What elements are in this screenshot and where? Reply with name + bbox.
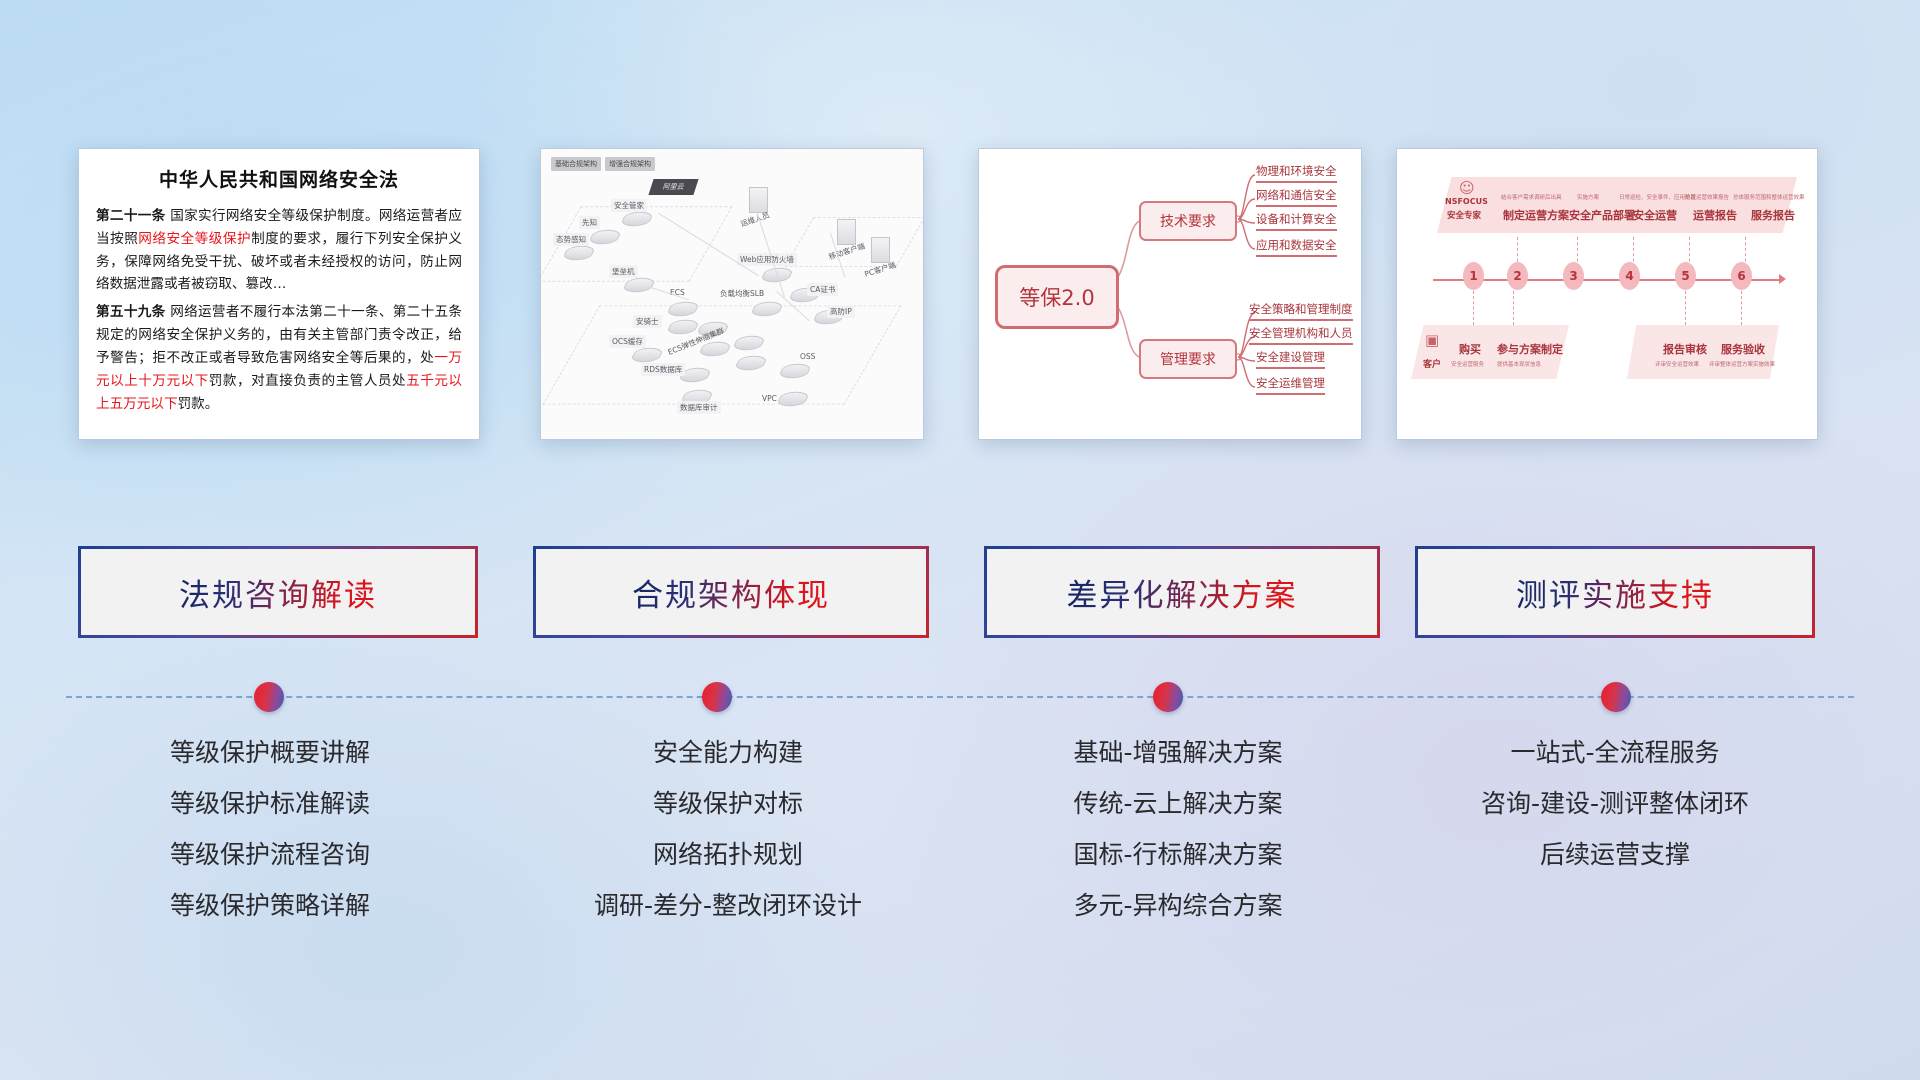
mindmap-leaf-mgmt-1: 安全策略和管理制度 [1249,301,1353,321]
connector-dash-9 [1741,291,1742,325]
card-nsfocus-service-timeline[interactable]: ☺ NSFOCUS 安全专家 制定运营方案 结合客户需求调研后出具 安全产品部署… [1396,148,1818,440]
list-item: 国标-行标解决方案 [978,842,1378,867]
mindmap-leaf-mgmt-2: 安全管理机构和人员 [1249,325,1353,345]
step-title-3: 安全运营 [1633,207,1677,223]
node-bastion-host [625,277,653,293]
node-anqishi [669,319,697,335]
customer-person-icon: ▣ [1425,331,1439,349]
step-sub-4: 阶段运营效果报告 [1685,193,1729,201]
slide-root: 中华人民共和国网络安全法 第二十一条 国家实行网络安全等级保护制度。网络运营者应… [0,0,1920,1080]
node-ecs-scaling-3 [735,335,763,351]
mindmap-leaf-tech-4: 应用和数据安全 [1256,237,1337,257]
list-item: 等级保护标准解读 [70,791,470,816]
section-header-compliance-architecture[interactable]: 合规架构体现 [533,546,929,638]
cloud-provider-banner: 阿里云 [648,179,698,195]
customer-sub-2: 提供基本现状信息 [1497,360,1541,368]
step-dot-3[interactable]: 3 [1563,262,1584,290]
step-title-2: 安全产品部署 [1569,207,1635,223]
step-dot-6[interactable]: 6 [1731,262,1752,290]
label-rds-db: RDS数据库 [641,363,685,376]
mindmap-branch-management[interactable]: 管理要求 [1139,339,1237,379]
node-vpc [779,391,807,407]
card-cybersecurity-law[interactable]: 中华人民共和国网络安全法 第二十一条 国家实行网络安全等级保护制度。网络运营者应… [78,148,480,440]
nsfocus-timeline: ☺ NSFOCUS 安全专家 制定运营方案 结合客户需求调研后出具 安全产品部署… [1397,149,1817,439]
law-article-marker: 第五十九条 [96,304,166,320]
node-ocs-cache [633,347,661,363]
step-dot-1[interactable]: 1 [1463,262,1484,290]
band-provider [1437,177,1797,233]
list-item: 调研-差分-整改闭环设计 [528,893,928,918]
law-title: 中华人民共和国网络安全法 [96,165,462,192]
section-header-differentiated-solution[interactable]: 差异化解决方案 [984,546,1380,638]
step-dot-5[interactable]: 5 [1675,262,1696,290]
list-item: 传统-云上解决方案 [978,791,1378,816]
timeline-node-1[interactable] [254,682,284,712]
timeline-node-2[interactable] [702,682,732,712]
node-xianzhi [591,229,619,245]
label-db-audit: 数据库审计 [677,401,721,414]
node-threat-awareness [565,245,593,261]
section-header-label-4: 测评实施支持 [1516,570,1714,615]
label-oss: OSS [797,351,818,362]
section-header-label-1: 法规咨询解读 [179,570,377,615]
step-title-1: 制定运营方案 [1503,207,1569,223]
detail-column-1: 等级保护概要讲解 等级保护标准解读 等级保护流程咨询 等级保护策略详解 [70,740,470,944]
label-anqishi: 安骑士 [633,315,662,328]
law-plain-text: 罚款，对直接负责的主管人员处 [209,373,406,389]
customer-title-4: 服务验收 [1721,341,1765,357]
section-headers-row: 法规咨询解读 合规架构体现 差异化解决方案 测评实施支持 [0,546,1920,646]
timeline-axis [1433,279,1781,281]
law-paragraph-59: 第五十九条 网络运营者不履行本法第二十一条、第二十五条规定的网络安全保护义务的，… [96,301,462,415]
mindmap: 等保2.0 技术要求 管理要求 物理和环境安全 网络和通信安全 设备和计算安全 … [979,149,1361,439]
list-item: 咨询-建设-测评整体闭环 [1410,791,1820,816]
step-dot-4[interactable]: 4 [1619,262,1640,290]
law-body: 中华人民共和国网络安全法 第二十一条 国家实行网络安全等级保护制度。网络运营者应… [79,149,479,439]
label-bastion-host: 堡垒机 [609,265,638,278]
node-mobile-client [837,219,856,245]
list-item: 一站式-全流程服务 [1410,740,1820,765]
node-oss [781,363,809,379]
timeline-node-3[interactable] [1153,682,1183,712]
law-plain-text: 罚款。 [178,396,219,412]
step-sub-5: 总体服务范围和整体运营效果 [1733,193,1805,201]
node-slb [753,301,781,317]
tag-enhanced-arch: 增强合规架构 [605,157,655,171]
card-dengbao-mindmap[interactable]: 等保2.0 技术要求 管理要求 物理和环境安全 网络和通信安全 设备和计算安全 … [978,148,1362,440]
expert-person-icon: ☺ [1459,179,1475,197]
step-title-5: 服务报告 [1751,207,1795,223]
section-header-assessment-support[interactable]: 测评实施支持 [1415,546,1815,638]
connector-dash-8 [1685,291,1686,325]
step-sub-2: 实施方案 [1577,193,1599,201]
node-rds-db [681,367,709,383]
label-ca-cert: CA证书 [807,283,838,296]
list-item: 安全能力构建 [528,740,928,765]
customer-sub-3: 评审安全运营效果 [1655,360,1699,368]
label-ocs-cache: OCS缓存 [609,335,646,348]
mindmap-leaf-tech-3: 设备和计算安全 [1256,211,1337,231]
label-slb: 负载均衡SLB [717,287,767,300]
connector-dash-6 [1473,291,1474,325]
card-cloud-architecture[interactable]: 基础合规架构 增强合规架构 阿里云 态势感知 先知 安全管家 堡垒机 ECS [540,148,924,440]
timeline-arrow-icon [1779,274,1786,284]
expert-role-line1: NSFOCUS [1445,197,1488,206]
label-anti-ddos-ip: 高防IP [827,305,855,318]
timeline-dashed-line [66,696,1854,700]
list-item: 等级保护概要讲解 [70,740,470,765]
list-item: 等级保护对标 [528,791,928,816]
label-xianzhi: 先知 [579,216,600,229]
detail-columns-row: 等级保护概要讲解 等级保护标准解读 等级保护流程咨询 等级保护策略详解 安全能力… [0,740,1920,1000]
label-threat-awareness: 态势感知 [553,233,589,246]
step-dot-2[interactable]: 2 [1507,262,1528,290]
tag-basic-arch: 基础合规架构 [551,157,601,171]
architecture-diagram: 基础合规架构 增强合规架构 阿里云 态势感知 先知 安全管家 堡垒机 ECS [541,149,923,439]
detail-column-4: 一站式-全流程服务 咨询-建设-测评整体闭环 后续运营支撑 [1410,740,1820,893]
law-article-marker: 第二十一条 [96,208,166,224]
law-highlight-text: 网络安全等级保护 [138,231,251,247]
list-item: 多元-异构综合方案 [978,893,1378,918]
mindmap-branch-technical[interactable]: 技术要求 [1139,201,1237,241]
screenshot-cards-row: 中华人民共和国网络安全法 第二十一条 国家实行网络安全等级保护制度。网络运营者应… [0,148,1920,448]
mindmap-leaf-tech-1: 物理和环境安全 [1256,163,1337,183]
list-item: 等级保护流程咨询 [70,842,470,867]
node-ecs [669,301,697,317]
list-item: 基础-增强解决方案 [978,740,1378,765]
label-security-steward: 安全管家 [611,199,647,212]
list-item: 后续运营支撑 [1410,842,1820,867]
mindmap-leaf-tech-2: 网络和通信安全 [1256,187,1337,207]
list-item: 等级保护策略详解 [70,893,470,918]
list-item: 网络拓扑规划 [528,842,928,867]
customer-sub-1: 安全运营服务 [1451,360,1484,368]
law-paragraph-21: 第二十一条 国家实行网络安全等级保护制度。网络运营者应当按照网络安全等级保护制度… [96,205,462,296]
expert-role-line2: 安全专家 [1447,209,1481,221]
customer-title-3: 报告审核 [1663,341,1707,357]
label-waf: Web应用防火墙 [737,253,797,266]
architecture-tag-row: 基础合规架构 增强合规架构 [551,157,655,171]
step-title-4: 运营报告 [1693,207,1737,223]
customer-sub-4: 评审整体运营方案实施效果 [1709,360,1775,368]
mindmap-root-node[interactable]: 等保2.0 [995,265,1119,329]
section-header-label-2: 合规架构体现 [632,570,830,615]
detail-column-3: 基础-增强解决方案 传统-云上解决方案 国标-行标解决方案 多元-异构综合方案 [978,740,1378,944]
section-header-regulation-consulting[interactable]: 法规咨询解读 [78,546,478,638]
step-sub-1: 结合客户需求调研后出具 [1501,193,1562,201]
node-security-steward [623,211,651,227]
connector-dash-7 [1513,291,1514,325]
mindmap-leaf-mgmt-3: 安全建设管理 [1256,349,1325,369]
detail-column-2: 安全能力构建 等级保护对标 网络拓扑规划 调研-差分-整改闭环设计 [528,740,928,944]
timeline-node-4[interactable] [1601,682,1631,712]
customer-title-2: 参与方案制定 [1497,341,1563,357]
customer-title-1: 购买 [1459,341,1481,357]
section-header-label-3: 差异化解决方案 [1067,570,1298,615]
label-vpc: VPC [759,393,780,404]
mindmap-leaf-mgmt-4: 安全运维管理 [1256,375,1325,395]
node-ecs-scaling-4 [737,355,765,371]
customer-role-label: 客户 [1423,357,1441,370]
